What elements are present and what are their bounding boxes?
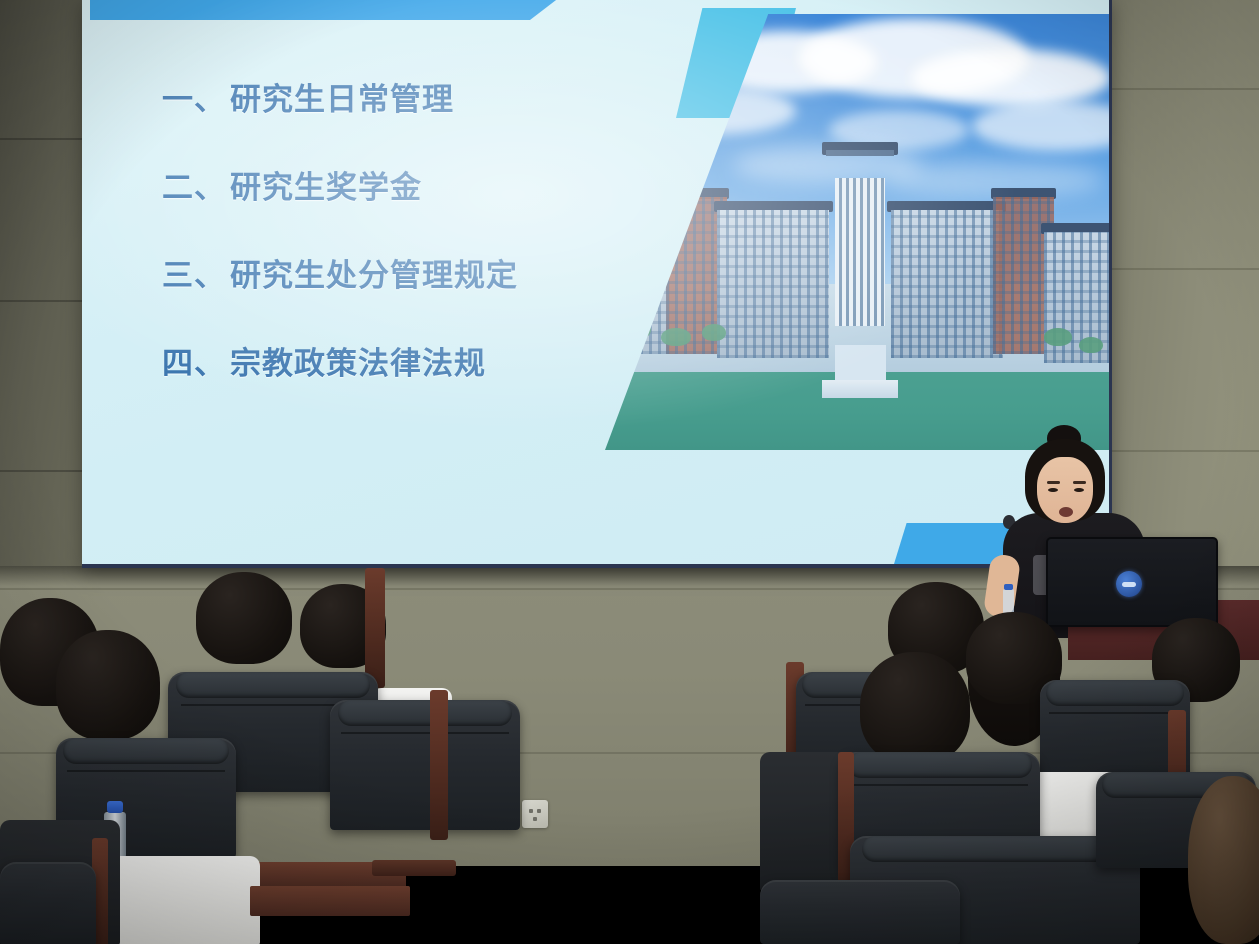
- building-wing-right: [891, 210, 1003, 358]
- building-steps: [822, 380, 899, 397]
- bullet-number: 二、: [162, 170, 226, 206]
- bullet-text: 宗教政策法律法规: [230, 346, 486, 382]
- bullet-number: 一、: [162, 82, 226, 118]
- audience-head: [196, 572, 292, 664]
- bullet-text: 研究生处分管理规定: [230, 258, 518, 294]
- seat: [0, 862, 96, 944]
- wall-left: [0, 0, 92, 640]
- laptop-logo-icon: [1116, 571, 1142, 597]
- bullet-text: 研究生日常管理: [230, 82, 454, 118]
- bullet-number: 三、: [162, 258, 226, 294]
- wall-outlet-icon: [522, 800, 548, 828]
- audience-head: [860, 652, 970, 764]
- projection-screen: 一、研究生日常管理 二、研究生奖学金 三、研究生处分管理规定 四、宗教政策法律法…: [82, 0, 1112, 568]
- bullet-number: 四、: [162, 346, 226, 382]
- seat-frame: [430, 690, 448, 840]
- arm-rest: [372, 860, 456, 876]
- audience-head: [1188, 776, 1259, 944]
- list-item: 三、研究生处分管理规定: [162, 250, 632, 295]
- slide-bullet-list: 一、研究生日常管理 二、研究生奖学金 三、研究生处分管理规定 四、宗教政策法律法…: [162, 74, 632, 426]
- list-item: 一、研究生日常管理: [162, 74, 632, 119]
- audience-head: [56, 630, 160, 740]
- list-item: 二、研究生奖学金: [162, 162, 632, 207]
- audience-shirt: [108, 856, 260, 944]
- bullet-text: 研究生奖学金: [230, 170, 422, 206]
- campus-building-photo: [605, 14, 1112, 450]
- seat: [330, 700, 520, 830]
- desk: [250, 886, 410, 916]
- slide-top-ribbon-light-icon: [90, 0, 590, 20]
- presenter-laptop: [1046, 537, 1218, 627]
- seat-frame: [365, 568, 385, 688]
- list-item: 四、宗教政策法律法规: [162, 338, 632, 383]
- lecture-hall-scene: 一、研究生日常管理 二、研究生奖学金 三、研究生处分管理规定 四、宗教政策法律法…: [0, 0, 1259, 944]
- building-wing-left: [717, 210, 829, 358]
- building-central-tower: [827, 154, 893, 359]
- seat: [760, 880, 960, 944]
